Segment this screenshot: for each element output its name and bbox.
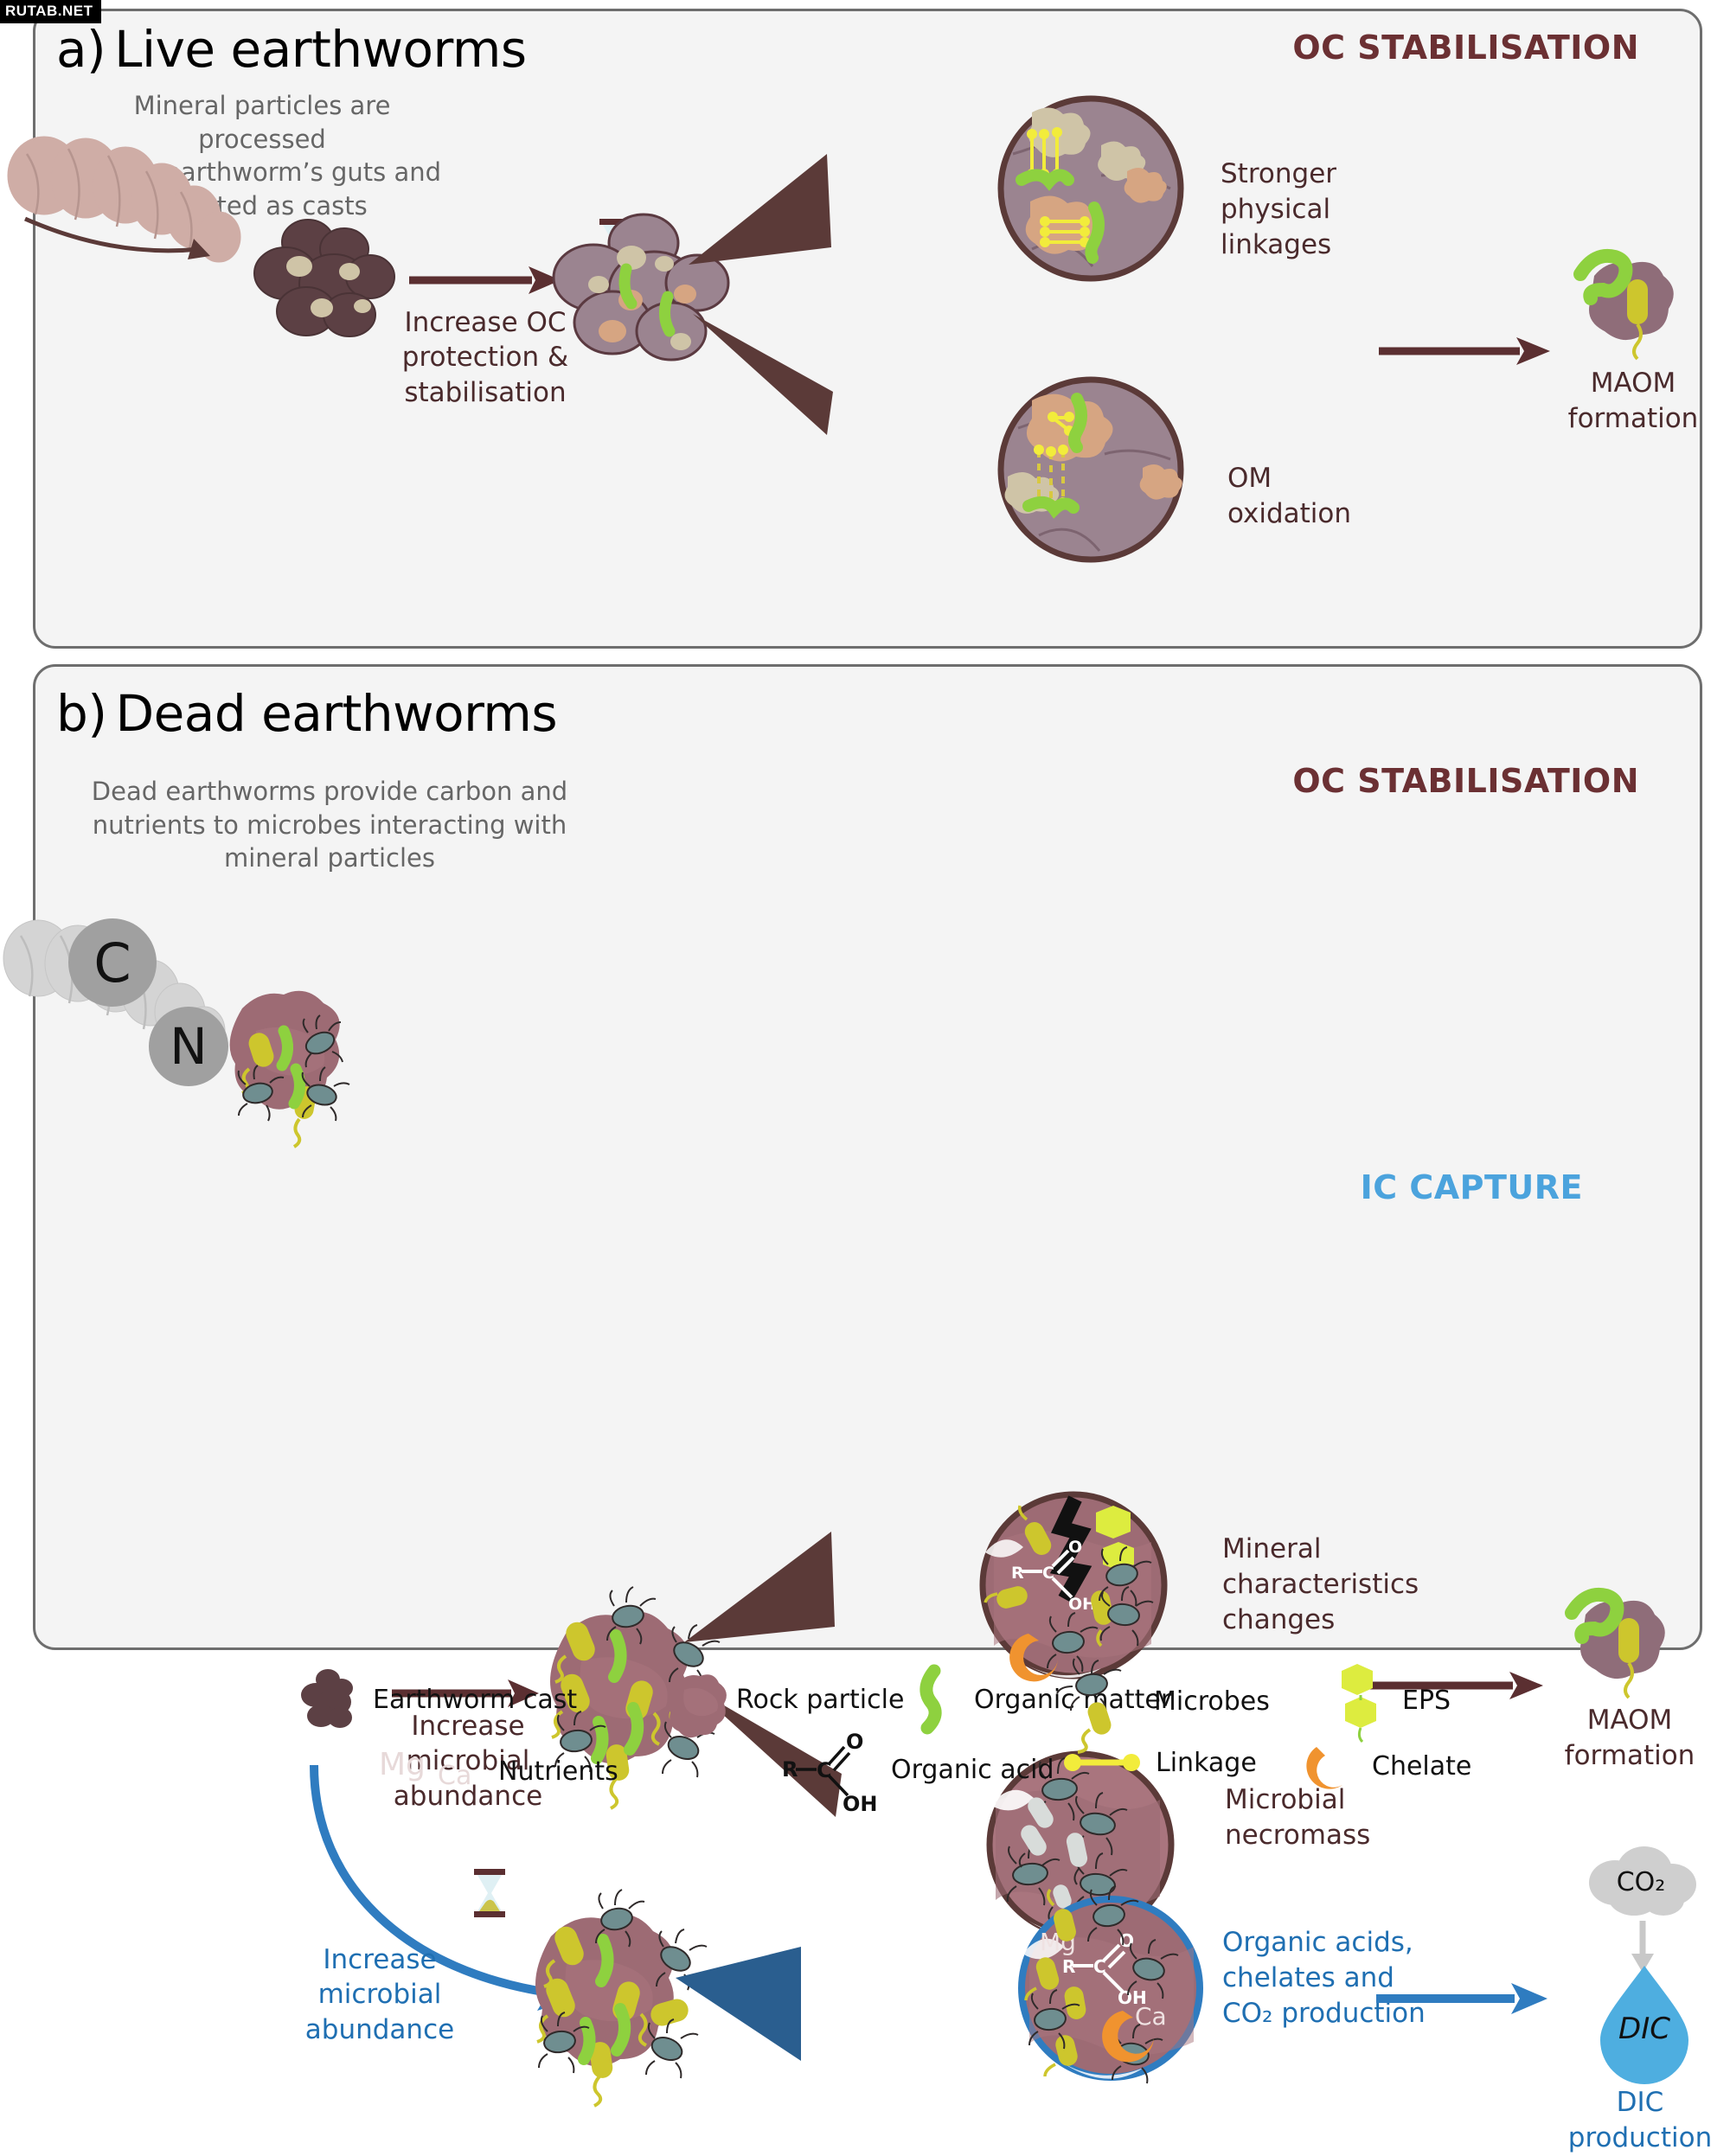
panel-dead-earthworms: b)Dead earthworms Dead earthworms provid… [33, 664, 1702, 1650]
legend-label-rock-particle: Rock particle [736, 1685, 904, 1715]
panel-b-title: b)Dead earthworms [56, 684, 557, 743]
watermark: RUTAB.NET [0, 0, 101, 23]
callout-organic-acids-chelates: Organic acids, chelates and CO₂ producti… [1222, 1925, 1482, 2031]
zoom-cone-blue [676, 1947, 805, 2068]
legend-item-microbes: Microbes [1054, 1664, 1270, 1738]
legend-item-eps: EPS [1326, 1659, 1451, 1742]
co2-label: CO₂ [1580, 1843, 1701, 1921]
svg-text:OH: OH [1118, 1987, 1147, 2008]
carbon-node-label: C [67, 917, 158, 1008]
panel-a-title: a)Live earthworms [56, 20, 527, 79]
process-arrow-a [409, 265, 561, 296]
linkage-icon [1062, 1745, 1144, 1780]
hourglass-icon-b2 [472, 1869, 507, 1917]
svg-text:C: C [1093, 1956, 1106, 1977]
svg-text:R: R [782, 1757, 798, 1782]
organic-matter-icon [898, 1667, 962, 1731]
nutrient-ca-glyph: Ca [438, 1761, 471, 1791]
chelate-icon [1304, 1738, 1360, 1794]
dic-label: DIC [1597, 1990, 1692, 2068]
rock-particle-icon [660, 1667, 724, 1731]
legend-item-earthworm-cast: Earthworm cast [297, 1667, 577, 1731]
zoom-cone-lower-a [693, 305, 840, 435]
panel-b-arrow-label-blue: Increase microbial abundance [285, 1942, 475, 2047]
outcome-arrow-blue [1376, 1983, 1549, 2014]
maom-particle-a [1565, 245, 1677, 366]
legend-item-linkage: Linkage [1062, 1745, 1257, 1780]
svg-text:O: O [1068, 1538, 1082, 1557]
panel-live-earthworms: a)Live earthworms Mineral particles are … [33, 9, 1702, 649]
svg-text:R: R [1011, 1564, 1024, 1583]
legend-label-nutrients: Nutrients [498, 1756, 618, 1787]
legend-label-microbes: Microbes [1154, 1686, 1270, 1717]
zoom-circle-mineral-changes: R C O OH [978, 1488, 1173, 1683]
microbes-icon [1054, 1664, 1149, 1738]
zoom-circle-linkages [997, 93, 1188, 284]
legend-label-linkage: Linkage [1156, 1748, 1257, 1778]
callout-om-oxidation: OM oxidation [1227, 461, 1435, 532]
legend-label-earthworm-cast: Earthworm cast [373, 1685, 577, 1715]
earthworm-cast-icon [297, 1667, 361, 1731]
maom-formation-label-a: MAOM formation [1542, 366, 1724, 437]
svg-text:O: O [846, 1730, 863, 1754]
panel-b-section-tag-oc: OC STABILISATION [1292, 762, 1639, 800]
svg-text:OH: OH [843, 1792, 878, 1816]
callout-mineral-characteristics-changes: Mineral characteristics changes [1222, 1532, 1508, 1638]
outcome-arrow-a [1379, 336, 1552, 367]
rock-particle-with-microbes-1 [213, 982, 368, 1138]
legend-item-organic-acid: R C O OH Organic acid [778, 1726, 1054, 1813]
panel-b-section-tag-ic: IC CAPTURE [1361, 1168, 1583, 1206]
panel-a-title-text: Live earthworms [114, 20, 526, 79]
panel-a-section-tag: OC STABILISATION [1292, 29, 1639, 67]
legend-label-chelate: Chelate [1372, 1751, 1471, 1782]
legend-label-organic-acid: Organic acid [891, 1755, 1054, 1785]
nutrient-mg-glyph: Mg [379, 1747, 426, 1782]
callout-stronger-physical-linkages: Stronger physical linkages [1221, 157, 1445, 263]
panel-b-label: b) [56, 684, 115, 743]
legend-item-rock-particle: Rock particle [660, 1667, 904, 1731]
legend-item-chelate: Chelate [1304, 1738, 1471, 1794]
legend-item-nutrients: Mg Ca Nutrients [379, 1745, 618, 1797]
diagram-canvas: RUTAB.NET a)Live earthworms Mineral part… [0, 0, 1730, 1829]
nutrients-icon: Mg Ca [379, 1745, 491, 1797]
legend: Earthworm cast Rock particle Organic mat… [33, 1659, 1702, 1823]
zoom-circle-organic-acids: Mg Ca R C O OH [1017, 1893, 1208, 2083]
zoom-circle-om-oxidation [997, 374, 1188, 565]
eps-icon [1326, 1659, 1390, 1742]
earthworm-illustration [18, 128, 260, 284]
panel-b-subtitle: Dead earthworms provide carbon and nutri… [79, 775, 580, 875]
svg-text:R: R [1062, 1956, 1075, 1977]
dic-production-label: DIC production [1541, 2085, 1730, 2156]
zoom-cone-upper-b [684, 1532, 840, 1644]
organic-acid-icon: R C O OH [778, 1726, 882, 1813]
panel-a-label: a) [56, 20, 114, 79]
svg-text:C: C [817, 1758, 832, 1782]
svg-text:C: C [1042, 1564, 1054, 1583]
panel-b-title-text: Dead earthworms [115, 684, 557, 743]
zoom-cone-upper-a [689, 154, 836, 266]
legend-label-eps: EPS [1402, 1686, 1451, 1716]
